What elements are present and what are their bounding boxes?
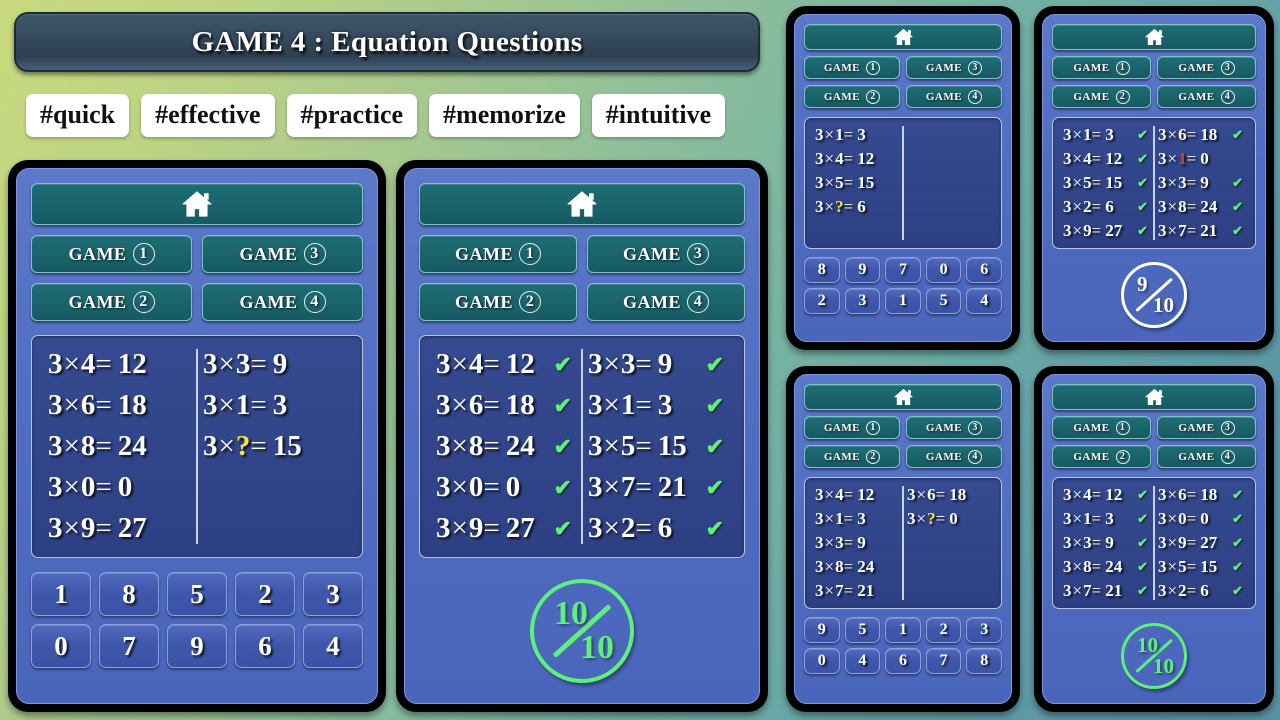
keypad-key-8[interactable]: 8 bbox=[966, 648, 1002, 674]
keypad-key-6[interactable]: 6 bbox=[885, 648, 921, 674]
operand-b: 3 bbox=[1083, 533, 1092, 552]
equation-row: 3×7=21 bbox=[815, 579, 899, 603]
equation-expression: 3×9=27 bbox=[436, 512, 535, 545]
equals-symbol: = bbox=[1187, 197, 1197, 216]
equation-expression: 3×4=12 bbox=[1063, 485, 1122, 505]
game-panel-thumb-4: GAME1GAME3GAME2GAME43×4=12✔3×1=3✔3×3=9✔3… bbox=[1034, 366, 1274, 712]
game-button-4[interactable]: GAME4 bbox=[587, 283, 745, 321]
equation-board: 3×4=12✔3×6=18✔3×8=24✔3×0=0✔3×9=27✔3×3=9✔… bbox=[419, 335, 745, 558]
game-button-number: 2 bbox=[866, 90, 880, 104]
keypad-key-7[interactable]: 7 bbox=[99, 624, 159, 668]
score-area: 1010 bbox=[405, 558, 759, 703]
game-button-label: GAME bbox=[240, 292, 298, 313]
page-header: GAME 4 : Equation Questions bbox=[14, 12, 760, 72]
operand-a: 3 bbox=[1158, 221, 1167, 240]
operand-b: ? bbox=[927, 509, 936, 528]
multiply-symbol: × bbox=[64, 348, 80, 380]
game-button-number: 2 bbox=[866, 450, 880, 464]
multiply-symbol: × bbox=[825, 485, 835, 504]
operand-a: 3 bbox=[48, 389, 63, 421]
equation-expression: 3×4=12 bbox=[815, 485, 874, 505]
game-button-number: 4 bbox=[687, 291, 709, 313]
keypad-key-5[interactable]: 5 bbox=[167, 572, 227, 616]
operand-a: 3 bbox=[48, 512, 63, 544]
column-divider bbox=[902, 486, 904, 600]
equation-board: 3×4=123×6=183×8=243×0=03×9=273×3=93×1=33… bbox=[31, 335, 363, 558]
operand-b: 4 bbox=[81, 348, 96, 380]
keypad-key-0[interactable]: 0 bbox=[926, 257, 962, 283]
game-button-label: GAME bbox=[1073, 91, 1109, 103]
equation-row: 3×1=3✔ bbox=[588, 385, 728, 426]
equation-expression: 3×6=18 bbox=[48, 389, 147, 422]
game-button-1[interactable]: GAME1 bbox=[419, 235, 577, 273]
equation-column-left: 3×4=12✔3×1=3✔3×3=9✔3×8=24✔3×7=21✔ bbox=[1059, 483, 1154, 603]
game-button-2[interactable]: GAME2 bbox=[1052, 85, 1151, 108]
equation-expression: 3×3=9 bbox=[203, 348, 287, 381]
operand-b: 2 bbox=[1178, 581, 1187, 600]
equals-symbol: = bbox=[483, 512, 499, 544]
keypad-key-2[interactable]: 2 bbox=[804, 288, 840, 314]
operand-a: 3 bbox=[436, 471, 451, 503]
operand-a: 3 bbox=[815, 125, 824, 144]
equation-expression: 3×0=0 bbox=[436, 471, 520, 504]
multiply-symbol: × bbox=[219, 430, 235, 462]
game-button-label: GAME bbox=[69, 292, 127, 313]
keypad-key-4[interactable]: 4 bbox=[845, 648, 881, 674]
keypad-key-9[interactable]: 9 bbox=[167, 624, 227, 668]
game-button-label: GAME bbox=[455, 292, 513, 313]
keypad-key-9[interactable]: 9 bbox=[845, 257, 881, 283]
operand-a: 3 bbox=[815, 197, 824, 216]
score-area: 910 bbox=[1043, 249, 1265, 341]
operand-a: 3 bbox=[815, 149, 824, 168]
equation-result: 21 bbox=[1200, 221, 1217, 240]
correct-check-icon: ✔ bbox=[1232, 535, 1245, 551]
score-denominator: 10 bbox=[1153, 295, 1174, 316]
equation-result: 27 bbox=[506, 512, 535, 544]
game-button-1[interactable]: GAME1 bbox=[31, 235, 192, 273]
correct-check-icon: ✔ bbox=[554, 475, 576, 501]
operand-a: 3 bbox=[815, 533, 824, 552]
equals-symbol: = bbox=[1092, 509, 1102, 528]
multiply-symbol: × bbox=[1073, 557, 1083, 576]
equation-result: 9 bbox=[1105, 533, 1114, 552]
equals-symbol: = bbox=[936, 485, 946, 504]
multiply-symbol: × bbox=[452, 471, 468, 503]
equation-result: 12 bbox=[506, 348, 535, 380]
operand-b: 3 bbox=[835, 533, 844, 552]
equation-result: 12 bbox=[1105, 485, 1122, 504]
operand-a: 3 bbox=[907, 485, 916, 504]
correct-check-icon: ✔ bbox=[1137, 511, 1150, 527]
home-icon bbox=[182, 190, 212, 218]
equals-symbol: = bbox=[844, 509, 854, 528]
multiply-symbol: × bbox=[1073, 125, 1083, 144]
equation-row: 3×3=9 bbox=[815, 531, 899, 555]
game-button-number: 3 bbox=[1221, 61, 1235, 75]
equation-expression: 3×3=9 bbox=[1063, 533, 1114, 553]
equation-result: 24 bbox=[1105, 557, 1122, 576]
multiply-symbol: × bbox=[219, 389, 235, 421]
game-button-number: 1 bbox=[1116, 421, 1130, 435]
game-button-2[interactable]: GAME2 bbox=[804, 85, 900, 108]
equation-row: 3×4=12 bbox=[48, 344, 191, 385]
equation-expression: 3×1=3 bbox=[815, 509, 866, 529]
score-denominator: 10 bbox=[1153, 656, 1174, 677]
correct-check-icon: ✔ bbox=[1232, 487, 1245, 503]
equation-row: 3×9=27 bbox=[48, 508, 191, 549]
equation-result: 18 bbox=[506, 389, 535, 421]
equals-symbol: = bbox=[1187, 149, 1197, 168]
equation-expression: 3×8=24 bbox=[815, 557, 874, 577]
equation-row: 3×4=12✔ bbox=[436, 344, 576, 385]
equation-row: 3×4=12✔ bbox=[1063, 483, 1150, 507]
game-button-number: 1 bbox=[866, 421, 880, 435]
equation-expression: 3×7=21 bbox=[588, 471, 687, 504]
correct-check-icon: ✔ bbox=[706, 475, 728, 501]
keypad-key-7[interactable]: 7 bbox=[885, 257, 921, 283]
equation-result: 3 bbox=[1105, 509, 1114, 528]
equation-column-left: 3×1=3✔3×4=12✔3×5=15✔3×2=6✔3×9=27✔ bbox=[1059, 123, 1154, 243]
multiply-symbol: × bbox=[917, 485, 927, 504]
score-area: 1010 bbox=[1043, 609, 1265, 703]
operand-b: 5 bbox=[621, 430, 636, 462]
keypad-key-0[interactable]: 0 bbox=[31, 624, 91, 668]
multiply-symbol: × bbox=[1073, 581, 1083, 600]
equation-row: 3×1=3✔ bbox=[1063, 123, 1150, 147]
game-button-number: 4 bbox=[304, 291, 326, 313]
game-button-4[interactable]: GAME4 bbox=[906, 85, 1002, 108]
operand-b: 1 bbox=[1083, 125, 1092, 144]
operand-a: 3 bbox=[1063, 221, 1072, 240]
multiply-symbol: × bbox=[452, 430, 468, 462]
operand-b: 6 bbox=[81, 389, 96, 421]
operand-b: 2 bbox=[621, 512, 636, 544]
equation-result: 24 bbox=[857, 557, 874, 576]
equation-result: 3 bbox=[1105, 125, 1114, 144]
equation-result: 12 bbox=[857, 149, 874, 168]
equation-expression: 3×3=9 bbox=[588, 348, 672, 381]
panel-body: GAME1GAME3GAME2GAME43×4=123×6=183×8=243×… bbox=[16, 168, 378, 704]
multiply-symbol: × bbox=[1073, 509, 1083, 528]
home-icon bbox=[567, 190, 597, 218]
equation-column-right bbox=[903, 123, 995, 243]
game-button-1[interactable]: GAME1 bbox=[1052, 416, 1151, 439]
game-button-label: GAME bbox=[824, 422, 860, 434]
keypad-key-5[interactable]: 5 bbox=[845, 617, 881, 643]
equals-symbol: = bbox=[250, 348, 266, 380]
equation-row: 3×4=12✔ bbox=[1063, 147, 1150, 171]
keypad-key-2[interactable]: 2 bbox=[926, 617, 962, 643]
equals-symbol: = bbox=[844, 125, 854, 144]
game-button-2[interactable]: GAME2 bbox=[804, 445, 900, 468]
panel-body: GAME1GAME3GAME2GAME43×4=12✔3×6=18✔3×8=24… bbox=[404, 168, 760, 704]
game-button-number: 4 bbox=[1221, 90, 1235, 104]
game-selector-grid: GAME1GAME3GAME2GAME4 bbox=[804, 416, 1002, 468]
operand-b: 5 bbox=[1083, 173, 1092, 192]
correct-check-icon: ✔ bbox=[1137, 175, 1150, 191]
equation-row: 3×6=18✔ bbox=[436, 385, 576, 426]
equation-expression: 3×8=24 bbox=[48, 430, 147, 463]
game-button-label: GAME bbox=[623, 244, 681, 265]
equation-row: 3×1=3 bbox=[815, 507, 899, 531]
operand-a: 3 bbox=[203, 389, 218, 421]
game-button-label: GAME bbox=[824, 91, 860, 103]
equation-expression: 3×4=12 bbox=[1063, 149, 1122, 169]
keypad-key-8[interactable]: 8 bbox=[99, 572, 159, 616]
operand-a: 3 bbox=[588, 389, 603, 421]
equation-result: 12 bbox=[1105, 149, 1122, 168]
correct-check-icon: ✔ bbox=[554, 352, 576, 378]
number-keypad: 1852307964 bbox=[31, 572, 363, 668]
game-selector-grid: GAME1GAME3GAME2GAME4 bbox=[1052, 56, 1256, 108]
equals-symbol: = bbox=[95, 471, 111, 503]
game-button-label: GAME bbox=[240, 244, 298, 265]
keypad-key-6[interactable]: 6 bbox=[235, 624, 295, 668]
keypad-key-4[interactable]: 4 bbox=[966, 288, 1002, 314]
game-button-number: 1 bbox=[866, 61, 880, 75]
operand-a: 3 bbox=[1063, 173, 1072, 192]
equation-expression: 3×7=21 bbox=[815, 581, 874, 601]
equation-result: 15 bbox=[857, 173, 874, 192]
game-button-number: 4 bbox=[1221, 450, 1235, 464]
equation-row: 3×8=24✔ bbox=[1158, 195, 1245, 219]
operand-a: 3 bbox=[203, 430, 218, 462]
equation-result: 0 bbox=[1200, 149, 1209, 168]
page-title: GAME 4 : Equation Questions bbox=[191, 26, 582, 59]
game-button-3[interactable]: GAME3 bbox=[587, 235, 745, 273]
equation-expression: 3×5=15 bbox=[1158, 557, 1217, 577]
game-selector-grid: GAME1GAME3GAME2GAME4 bbox=[804, 56, 1002, 108]
equation-result: 18 bbox=[1200, 485, 1217, 504]
equation-row: 3×3=9 bbox=[203, 344, 346, 385]
equation-expression: 3×4=12 bbox=[815, 149, 874, 169]
operand-b: 1 bbox=[621, 389, 636, 421]
operand-b: 1 bbox=[835, 125, 844, 144]
equation-expression: 3×9=27 bbox=[48, 512, 147, 545]
operand-a: 3 bbox=[1063, 533, 1072, 552]
game-button-3[interactable]: GAME3 bbox=[202, 235, 363, 273]
tag-row: #quick#effective#practice#memorize#intui… bbox=[26, 94, 725, 137]
equation-result: 9 bbox=[658, 348, 673, 380]
equals-symbol: = bbox=[1092, 533, 1102, 552]
equation-board: 3×1=3✔3×4=12✔3×5=15✔3×2=6✔3×9=27✔3×6=18✔… bbox=[1052, 117, 1256, 249]
correct-check-icon: ✔ bbox=[706, 516, 728, 542]
correct-check-icon: ✔ bbox=[1232, 511, 1245, 527]
keypad-key-9[interactable]: 9 bbox=[804, 617, 840, 643]
operand-a: 3 bbox=[1063, 557, 1072, 576]
score-badge: 1010 bbox=[1121, 623, 1187, 689]
multiply-symbol: × bbox=[1073, 197, 1083, 216]
equation-expression: 3×1=3 bbox=[1063, 125, 1114, 145]
operand-b: 2 bbox=[1083, 197, 1092, 216]
game-button-3[interactable]: GAME3 bbox=[906, 416, 1002, 439]
equation-column-right: 3×6=18✔3×0=0✔3×9=27✔3×5=15✔3×2=6✔ bbox=[1154, 483, 1249, 603]
operand-b: 1 bbox=[835, 509, 844, 528]
operand-a: 3 bbox=[1158, 485, 1167, 504]
operand-a: 3 bbox=[1158, 557, 1167, 576]
home-button[interactable] bbox=[804, 24, 1002, 50]
game-button-2[interactable]: GAME2 bbox=[1052, 445, 1151, 468]
equation-row: 3×?=15 bbox=[203, 426, 346, 467]
equation-column-right: 3×3=93×1=33×?=15 bbox=[197, 344, 352, 549]
operand-a: 3 bbox=[1158, 149, 1167, 168]
home-button[interactable] bbox=[1052, 24, 1256, 50]
game-button-label: GAME bbox=[1178, 62, 1214, 74]
equation-result: 21 bbox=[1105, 581, 1122, 600]
home-button[interactable] bbox=[804, 384, 1002, 410]
equation-expression: 3×8=24 bbox=[1063, 557, 1122, 577]
equation-row: 3×8=24 bbox=[815, 555, 899, 579]
keypad-key-4[interactable]: 4 bbox=[303, 624, 363, 668]
correct-check-icon: ✔ bbox=[1137, 487, 1150, 503]
game-button-label: GAME bbox=[1073, 62, 1109, 74]
operand-a: 3 bbox=[48, 430, 63, 462]
operand-a: 3 bbox=[588, 512, 603, 544]
equals-symbol: = bbox=[483, 430, 499, 462]
equation-row: 3×8=24✔ bbox=[1063, 555, 1150, 579]
game-button-label: GAME bbox=[824, 451, 860, 463]
game-button-1[interactable]: GAME1 bbox=[804, 416, 900, 439]
game-button-4[interactable]: GAME4 bbox=[202, 283, 363, 321]
multiply-symbol: × bbox=[604, 430, 620, 462]
keypad-key-3[interactable]: 3 bbox=[966, 617, 1002, 643]
equation-result: 27 bbox=[1105, 221, 1122, 240]
keypad-key-1[interactable]: 1 bbox=[885, 617, 921, 643]
multiply-symbol: × bbox=[1168, 557, 1178, 576]
equals-symbol: = bbox=[1187, 557, 1197, 576]
equation-expression: 3×1=3 bbox=[203, 389, 287, 422]
game-button-3[interactable]: GAME3 bbox=[1157, 56, 1256, 79]
game-button-1[interactable]: GAME1 bbox=[804, 56, 900, 79]
correct-check-icon: ✔ bbox=[1232, 583, 1245, 599]
equation-result: 12 bbox=[857, 485, 874, 504]
game-button-4[interactable]: GAME4 bbox=[906, 445, 1002, 468]
game-button-4[interactable]: GAME4 bbox=[1157, 85, 1256, 108]
equals-symbol: = bbox=[844, 557, 854, 576]
game-selector-grid: GAME1GAME3GAME2GAME4 bbox=[1052, 416, 1256, 468]
equation-expression: 3×7=21 bbox=[1063, 581, 1122, 601]
keypad-key-5[interactable]: 5 bbox=[926, 288, 962, 314]
equation-result: 6 bbox=[658, 512, 673, 544]
game-button-3[interactable]: GAME3 bbox=[906, 56, 1002, 79]
equation-expression: 3×?=6 bbox=[815, 197, 866, 217]
equation-expression: 3×8=24 bbox=[436, 430, 535, 463]
equation-result: 6 bbox=[1105, 197, 1114, 216]
equation-column-left: 3×4=123×6=183×8=243×0=03×9=27 bbox=[42, 344, 197, 549]
keypad-key-0[interactable]: 0 bbox=[804, 648, 840, 674]
home-button[interactable] bbox=[1052, 384, 1256, 410]
operand-a: 3 bbox=[1158, 197, 1167, 216]
game-button-1[interactable]: GAME1 bbox=[1052, 56, 1151, 79]
keypad-key-6[interactable]: 6 bbox=[966, 257, 1002, 283]
game-button-number: 3 bbox=[968, 61, 982, 75]
multiply-symbol: × bbox=[1168, 149, 1178, 168]
equals-symbol: = bbox=[635, 389, 651, 421]
equation-expression: 3×6=18 bbox=[907, 485, 966, 505]
operand-a: 3 bbox=[1158, 581, 1167, 600]
operand-b: 5 bbox=[835, 173, 844, 192]
operand-a: 3 bbox=[588, 348, 603, 380]
game-panel-main-question: GAME1GAME3GAME2GAME43×4=123×6=183×8=243×… bbox=[8, 160, 386, 712]
home-button[interactable] bbox=[419, 183, 745, 225]
operand-a: 3 bbox=[1063, 485, 1072, 504]
game-button-2[interactable]: GAME2 bbox=[419, 283, 577, 321]
score-numerator: 9 bbox=[1137, 274, 1148, 295]
equation-row: 3×4=12 bbox=[815, 147, 899, 171]
game-button-number: 2 bbox=[1116, 90, 1130, 104]
equation-column-left: 3×1=33×4=123×5=153×?=6 bbox=[811, 123, 903, 243]
equation-row: 3×8=24 bbox=[48, 426, 191, 467]
game-button-number: 3 bbox=[687, 243, 709, 265]
equation-result: 21 bbox=[857, 581, 874, 600]
equation-result: 9 bbox=[273, 348, 288, 380]
equals-symbol: = bbox=[1187, 533, 1197, 552]
game-button-label: GAME bbox=[926, 451, 962, 463]
equation-row: 3×1=3✔ bbox=[1063, 507, 1150, 531]
correct-check-icon: ✔ bbox=[1137, 199, 1150, 215]
equation-expression: 3×0=0 bbox=[48, 471, 132, 504]
equation-expression: 3×5=15 bbox=[588, 430, 687, 463]
equation-result: 27 bbox=[118, 512, 147, 544]
correct-check-icon: ✔ bbox=[1137, 151, 1150, 167]
multiply-symbol: × bbox=[452, 348, 468, 380]
equation-row: 3×3=9✔ bbox=[588, 344, 728, 385]
game-button-number: 1 bbox=[1116, 61, 1130, 75]
equation-expression: 3×2=6 bbox=[1063, 197, 1114, 217]
multiply-symbol: × bbox=[452, 389, 468, 421]
hashtag-intuitive: #intuitive bbox=[592, 94, 725, 137]
operand-b: 8 bbox=[1178, 197, 1187, 216]
equals-symbol: = bbox=[844, 149, 854, 168]
game-button-2[interactable]: GAME2 bbox=[31, 283, 192, 321]
equation-expression: 3×9=27 bbox=[1158, 533, 1217, 553]
equals-symbol: = bbox=[1187, 125, 1197, 144]
multiply-symbol: × bbox=[64, 389, 80, 421]
equation-row: 3×0=0 bbox=[48, 467, 191, 508]
equation-expression: 3×6=18 bbox=[436, 389, 535, 422]
home-button[interactable] bbox=[31, 183, 363, 225]
keypad-key-1[interactable]: 1 bbox=[885, 288, 921, 314]
operand-b: ? bbox=[835, 197, 844, 216]
game-button-label: GAME bbox=[926, 62, 962, 74]
operand-b: 0 bbox=[1178, 509, 1187, 528]
game-button-label: GAME bbox=[1178, 422, 1214, 434]
home-icon bbox=[894, 388, 913, 406]
keypad-key-3[interactable]: 3 bbox=[303, 572, 363, 616]
panel-body: GAME1GAME3GAME2GAME43×1=33×4=123×5=153×?… bbox=[794, 14, 1012, 342]
equation-expression: 3×8=24 bbox=[1158, 197, 1217, 217]
equation-row: 3×9=27✔ bbox=[1158, 531, 1245, 555]
keypad-key-3[interactable]: 3 bbox=[845, 288, 881, 314]
keypad-key-8[interactable]: 8 bbox=[804, 257, 840, 283]
equation-result: 24 bbox=[506, 430, 535, 462]
operand-a: 3 bbox=[48, 471, 63, 503]
game-panel-main-result: GAME1GAME3GAME2GAME43×4=12✔3×6=18✔3×8=24… bbox=[396, 160, 768, 712]
game-button-4[interactable]: GAME4 bbox=[1157, 445, 1256, 468]
keypad-key-7[interactable]: 7 bbox=[926, 648, 962, 674]
equation-row: 3×8=24✔ bbox=[436, 426, 576, 467]
operand-a: 3 bbox=[436, 430, 451, 462]
keypad-key-1[interactable]: 1 bbox=[31, 572, 91, 616]
equals-symbol: = bbox=[844, 485, 854, 504]
correct-check-icon: ✔ bbox=[1137, 127, 1150, 143]
operand-b: 6 bbox=[1178, 485, 1187, 504]
operand-b: 1 bbox=[1083, 509, 1092, 528]
correct-check-icon: ✔ bbox=[706, 393, 728, 419]
game-button-3[interactable]: GAME3 bbox=[1157, 416, 1256, 439]
keypad-key-2[interactable]: 2 bbox=[235, 572, 295, 616]
